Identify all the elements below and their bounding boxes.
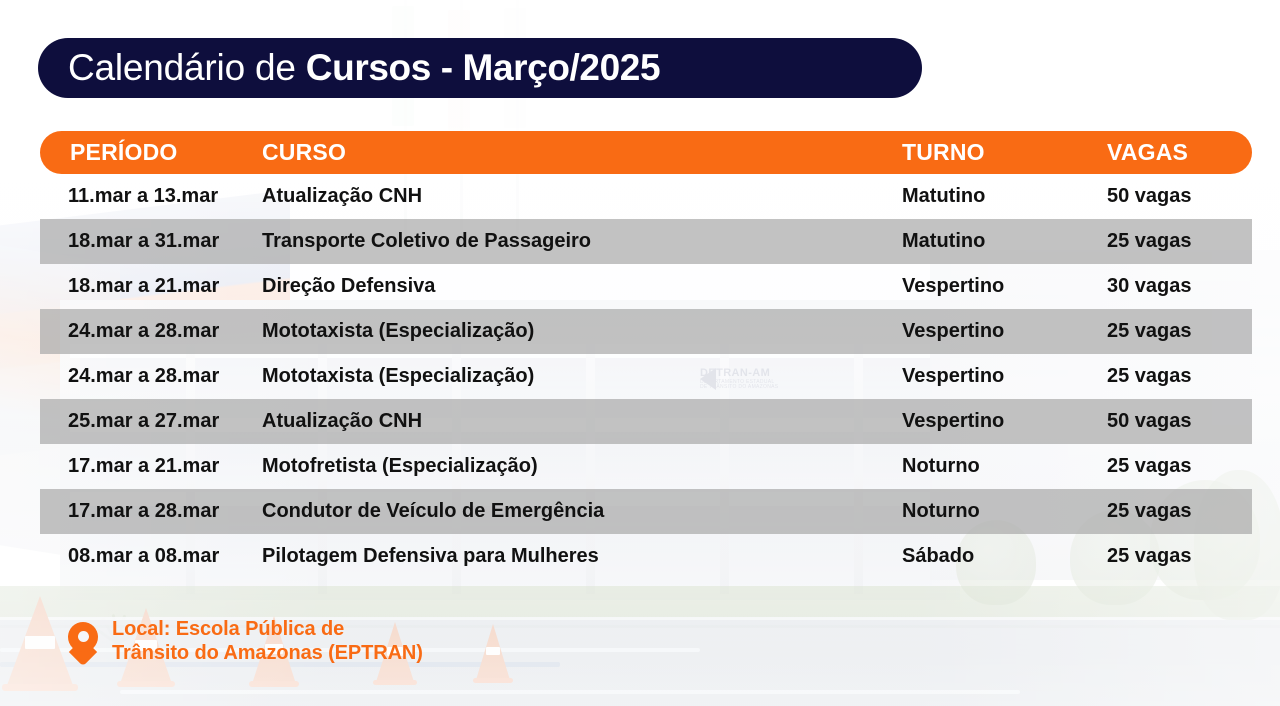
cell-vagas: 25 vagas [1107, 320, 1252, 343]
cell-curso: Mototaxista (Especialização) [262, 365, 902, 388]
table-row: 24.mar a 28.mar Mototaxista (Especializa… [40, 309, 1252, 354]
cell-curso: Direção Defensiva [262, 275, 902, 298]
cell-curso: Atualização CNH [262, 410, 902, 433]
cell-turno: Vespertino [902, 365, 1107, 388]
cell-periodo: 17.mar a 28.mar [40, 500, 262, 523]
cell-turno: Noturno [902, 500, 1107, 523]
cell-vagas: 25 vagas [1107, 365, 1252, 388]
cell-curso: Atualização CNH [262, 185, 902, 208]
cell-curso: Pilotagem Defensiva para Mulheres [262, 545, 902, 568]
page-title-light: Calendário de [68, 47, 296, 89]
cell-turno: Matutino [902, 230, 1107, 253]
cell-periodo: 24.mar a 28.mar [40, 320, 262, 343]
cell-periodo: 24.mar a 28.mar [40, 365, 262, 388]
page-title-pill: Calendário de Cursos - Março/2025 [38, 38, 922, 98]
cell-vagas: 50 vagas [1107, 185, 1252, 208]
courses-table: PERÍODO CURSO TURNO VAGAS 11.mar a 13.ma… [40, 131, 1252, 579]
location-line-2: Trânsito do Amazonas (EPTRAN) [112, 642, 423, 666]
table-row: 18.mar a 21.mar Direção Defensiva Vesper… [40, 264, 1252, 309]
cell-turno: Noturno [902, 455, 1107, 478]
table-row: 11.mar a 13.mar Atualização CNH Matutino… [40, 174, 1252, 219]
page-title-bold: Cursos - Março/2025 [306, 47, 660, 89]
cell-vagas: 25 vagas [1107, 545, 1252, 568]
column-header-curso: CURSO [262, 139, 902, 166]
cell-vagas: 50 vagas [1107, 410, 1252, 433]
cell-curso: Mototaxista (Especialização) [262, 320, 902, 343]
column-header-turno: TURNO [902, 139, 1107, 166]
cell-vagas: 25 vagas [1107, 500, 1252, 523]
table-row: 17.mar a 21.mar Motofretista (Especializ… [40, 444, 1252, 489]
location-line-1: Local: Escola Pública de [112, 618, 423, 642]
cell-curso: Condutor de Veículo de Emergência [262, 500, 902, 523]
cell-turno: Sábado [902, 545, 1107, 568]
table-row: 24.mar a 28.mar Mototaxista (Especializa… [40, 354, 1252, 399]
footer: Local: Escola Pública de Trânsito do Ama… [0, 600, 1280, 706]
cell-vagas: 25 vagas [1107, 230, 1252, 253]
cell-periodo: 11.mar a 13.mar [40, 185, 262, 208]
location-text: Local: Escola Pública de Trânsito do Ama… [112, 618, 423, 665]
cell-turno: Vespertino [902, 410, 1107, 433]
cell-turno: Vespertino [902, 320, 1107, 343]
cell-periodo: 25.mar a 27.mar [40, 410, 262, 433]
table-row: 08.mar a 08.mar Pilotagem Defensiva para… [40, 534, 1252, 579]
location-block: Local: Escola Pública de Trânsito do Ama… [68, 618, 423, 665]
table-row: 18.mar a 31.mar Transporte Coletivo de P… [40, 219, 1252, 264]
cell-vagas: 25 vagas [1107, 455, 1252, 478]
table-header-row: PERÍODO CURSO TURNO VAGAS [40, 131, 1252, 174]
cell-turno: Vespertino [902, 275, 1107, 298]
cell-periodo: 17.mar a 21.mar [40, 455, 262, 478]
cell-vagas: 30 vagas [1107, 275, 1252, 298]
cell-periodo: 18.mar a 21.mar [40, 275, 262, 298]
table-row: 25.mar a 27.mar Atualização CNH Vesperti… [40, 399, 1252, 444]
map-pin-icon [68, 622, 98, 662]
cell-periodo: 18.mar a 31.mar [40, 230, 262, 253]
column-header-vagas: VAGAS [1107, 139, 1252, 166]
cell-curso: Transporte Coletivo de Passageiro [262, 230, 902, 253]
cell-periodo: 08.mar a 08.mar [40, 545, 262, 568]
cell-curso: Motofretista (Especialização) [262, 455, 902, 478]
cell-turno: Matutino [902, 185, 1107, 208]
column-header-periodo: PERÍODO [40, 139, 262, 166]
table-row: 17.mar a 28.mar Condutor de Veículo de E… [40, 489, 1252, 534]
